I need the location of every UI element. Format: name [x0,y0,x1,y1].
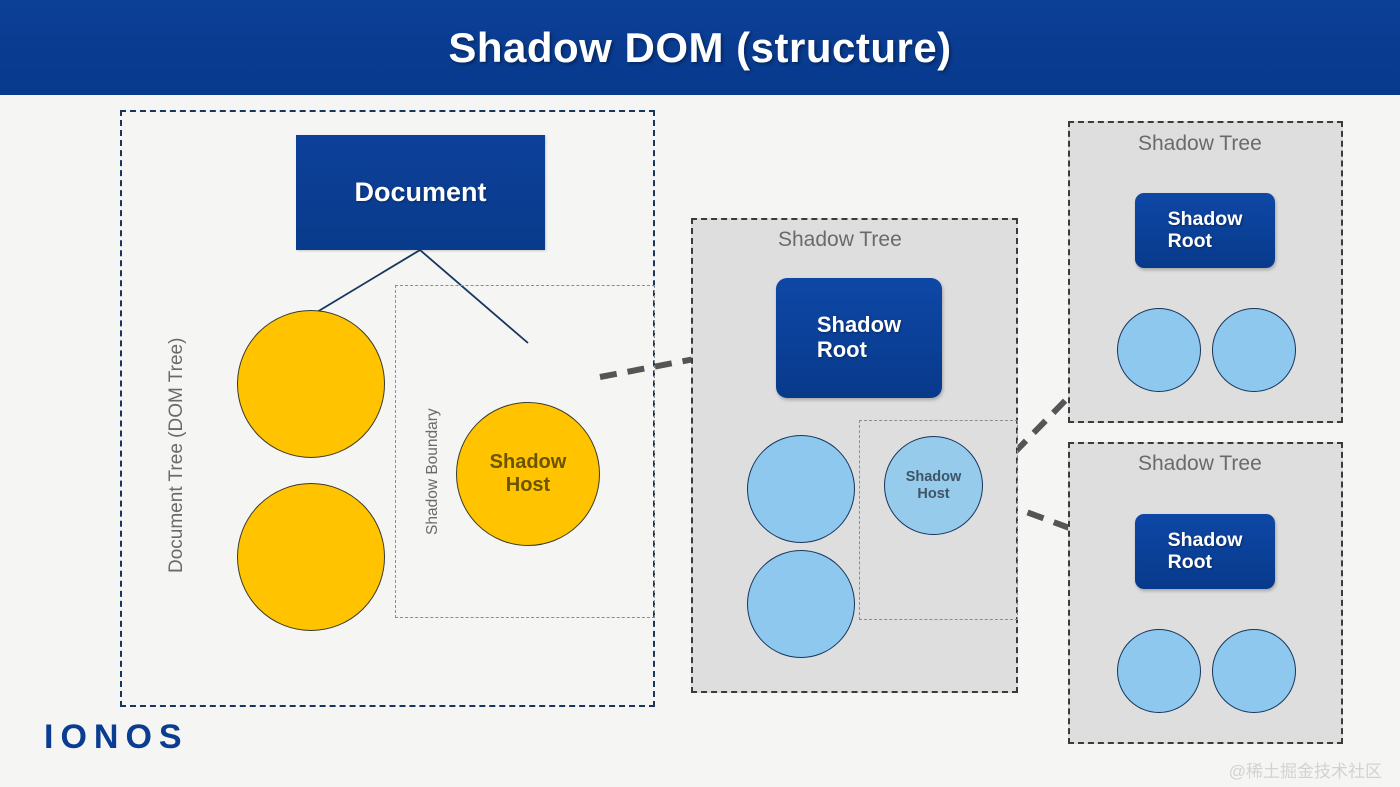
ionos-logo: IONOS [44,718,189,757]
dom-node-circle-1[interactable] [237,310,385,458]
shadow-tree-top-caption: Shadow Tree [1138,132,1262,156]
page-title: Shadow DOM (structure) [448,24,951,72]
shadow-host-node-dom[interactable]: ShadowHost [456,402,600,546]
shadow-root-label-top: ShadowRoot [1168,209,1243,253]
shadow-root-label-bottom: ShadowRoot [1168,530,1243,574]
document-node[interactable]: Document [296,135,545,250]
shadow-tree-main-caption: Shadow Tree [778,228,902,252]
shadow-tree-node-2[interactable] [747,550,855,658]
shadow-tree-top-node-2[interactable] [1212,308,1296,392]
shadow-boundary-label: Shadow Boundary [424,408,442,535]
shadow-tree-bottom-caption: Shadow Tree [1138,452,1262,476]
shadow-host-label-line1: ShadowHost [490,451,567,497]
title-bar: Shadow DOM (structure) [0,0,1400,95]
shadow-tree-bottom-node-2[interactable] [1212,629,1296,713]
shadow-tree-node-1[interactable] [747,435,855,543]
dom-node-circle-2[interactable] [237,483,385,631]
shadow-tree-bottom-panel [1068,442,1343,744]
shadow-root-label-main: ShadowRoot [817,313,901,362]
diagram-canvas: Document Tree (DOM Tree) Shadow Boundary… [0,95,1400,787]
shadow-tree-bottom-node-1[interactable] [1117,629,1201,713]
shadow-host-node-nested[interactable]: ShadowHost [884,436,983,535]
shadow-root-node-top[interactable]: ShadowRoot [1135,193,1275,268]
nested-shadow-host-label: ShadowHost [906,469,962,502]
shadow-tree-top-panel [1068,121,1343,423]
document-tree-label: Document Tree (DOM Tree) [166,338,188,573]
shadow-root-node-bottom[interactable]: ShadowRoot [1135,514,1275,589]
watermark-text: @稀土掘金技术社区 [1229,757,1382,782]
shadow-tree-top-node-1[interactable] [1117,308,1201,392]
shadow-root-node-main[interactable]: ShadowRoot [776,278,942,398]
